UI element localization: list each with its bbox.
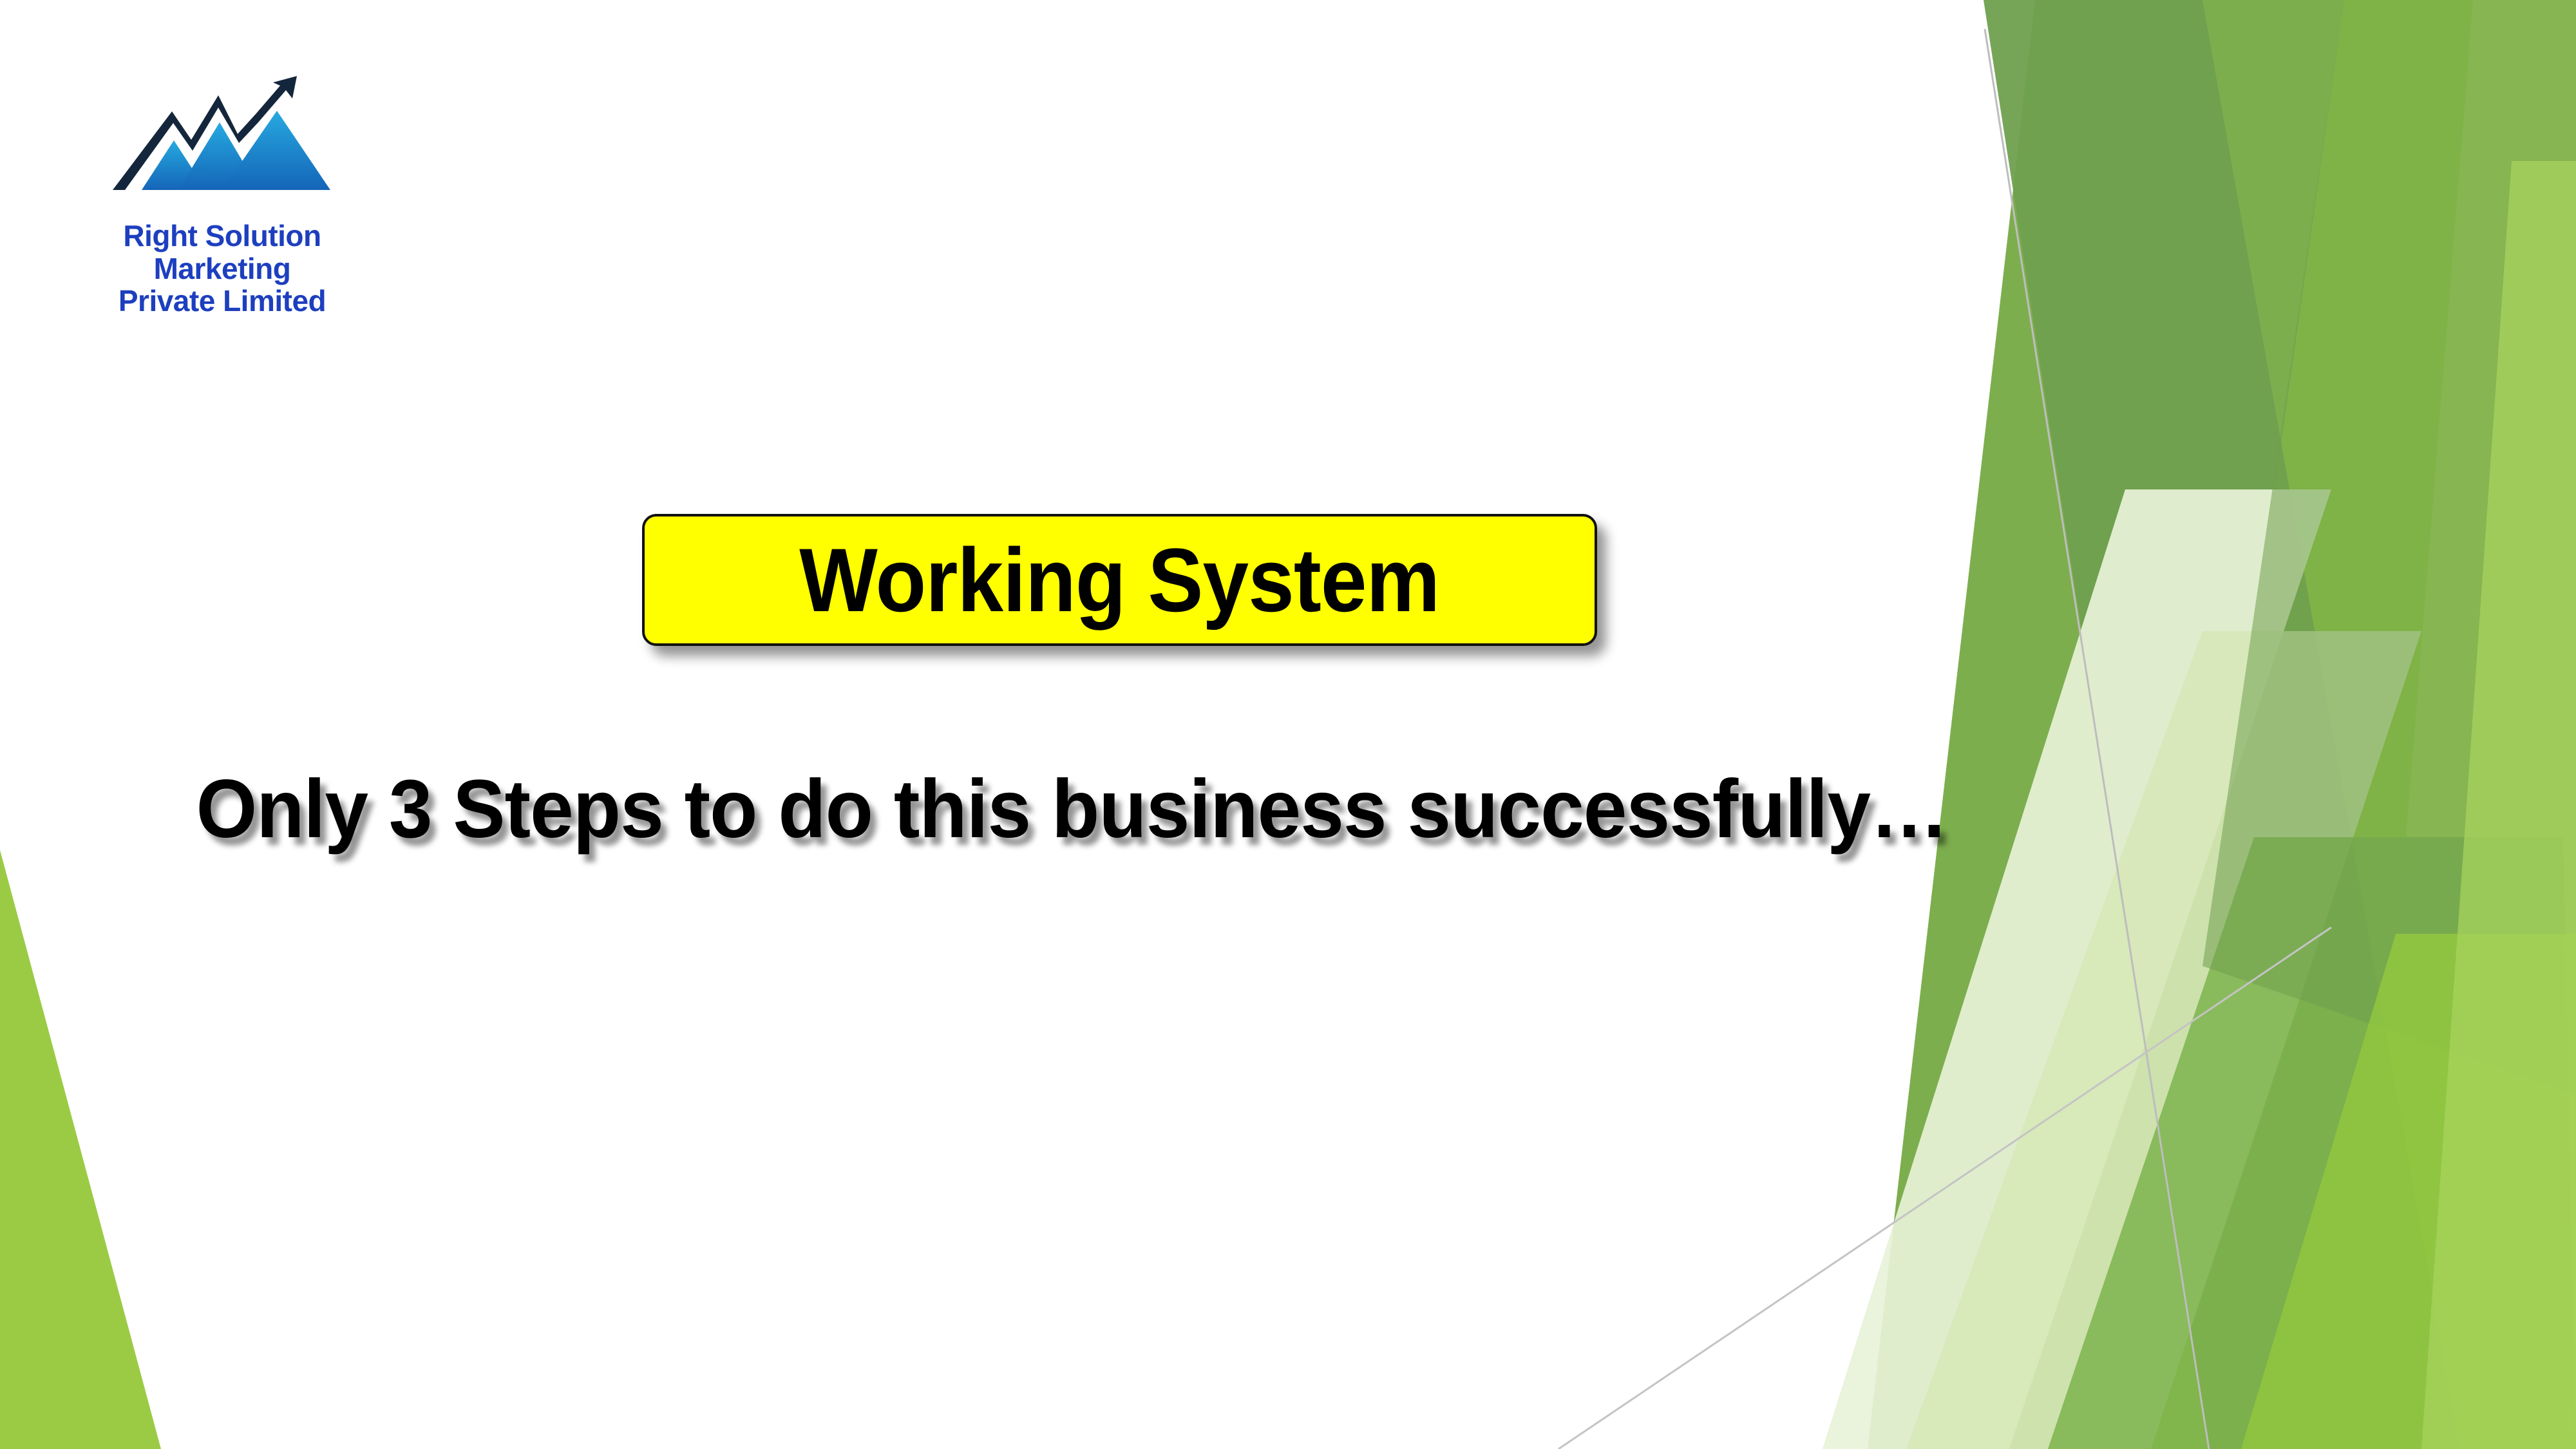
decor-facet-pale-lower [1906, 631, 2421, 1449]
logo-line-1: Right Solution Marketing [52, 220, 393, 285]
decor-line-diagonal-steep [1985, 29, 2209, 1449]
decor-facet-green-overlap-b [2202, 0, 2576, 1095]
decor-green-dark-band [1984, 0, 2460, 1449]
decor-wedge-bottom-left [0, 850, 161, 1449]
decor-facet-bright-sliver [2421, 161, 2576, 1449]
slide-title: Working System [800, 535, 1440, 625]
logo-wordmark: Right Solution Marketing Private Limited [52, 220, 393, 317]
logo-line-2: Private Limited [52, 285, 393, 317]
slide-subtitle: Only 3 Steps to do this business success… [0, 766, 2145, 853]
title-callout-box: Working System [642, 514, 1597, 646]
decor-green-right-bright [1964, 0, 2576, 1449]
decor-green-mid-band [1868, 0, 2344, 1449]
mountain-growth-arrow-icon [93, 58, 351, 216]
decor-facet-pale-upper [1823, 489, 2331, 1449]
decor-line-diagonal-shallow [1558, 927, 2331, 1449]
decor-facet-green-overlap-c [2241, 934, 2576, 1449]
decor-green-right-light [2357, 0, 2576, 1449]
decor-facet-green-overlap-a [2048, 837, 2576, 1449]
company-logo: Right Solution Marketing Private Limited [52, 58, 393, 317]
slide-subtitle-text: Only 3 Steps to do this business success… [196, 766, 1948, 853]
presentation-slide: Right Solution Marketing Private Limited… [0, 0, 2576, 1449]
